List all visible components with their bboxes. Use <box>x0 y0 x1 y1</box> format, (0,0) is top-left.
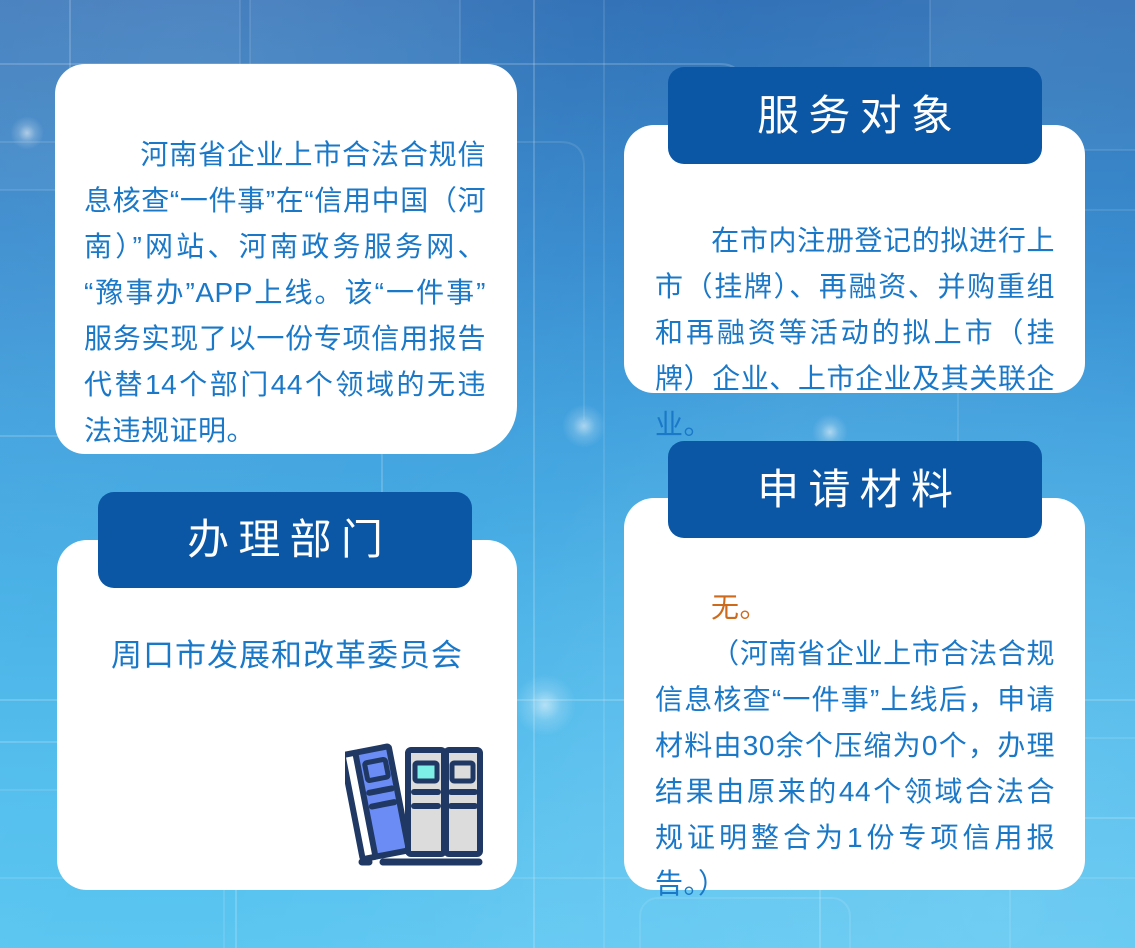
application-materials-paragraph-text: （河南省企业上市合法合规信息核查“一件事”上线后，申请材料由30余个压缩为0个，… <box>655 638 1055 899</box>
service-target-title: 服务对象 <box>748 95 962 137</box>
glow-spark <box>10 116 44 150</box>
intro-paragraph-text: 河南省企业上市合法合规信息核查“一件事”在“信用中国（河南）”网站、河南政务服务… <box>84 139 486 446</box>
document-binders-icon <box>345 728 487 868</box>
no-materials-label: 无。 <box>711 592 768 623</box>
service-target-paragraph: 在市内注册登记的拟进行上市（挂牌）、再融资、并购重组和再融资等活动的拟上市（挂牌… <box>655 218 1055 448</box>
application-materials-title-badge: 申请材料 <box>668 441 1042 538</box>
department-name: 周口市发展和改革委员会 <box>57 634 517 678</box>
intro-paragraph: 河南省企业上市合法合规信息核查“一件事”在“信用中国（河南）”网站、河南政务服务… <box>84 132 486 454</box>
no-materials-note: 无。 <box>655 585 1055 631</box>
handling-department-title: 办理部门 <box>178 519 392 561</box>
service-target-title-badge: 服务对象 <box>668 67 1042 164</box>
service-target-paragraph-text: 在市内注册登记的拟进行上市（挂牌）、再融资、并购重组和再融资等活动的拟上市（挂牌… <box>655 225 1055 440</box>
application-materials-paragraph: （河南省企业上市合法合规信息核查“一件事”上线后，申请材料由30余个压缩为0个，… <box>655 631 1055 907</box>
glow-spark <box>562 404 606 448</box>
application-materials-body: 无。 （河南省企业上市合法合规信息核查“一件事”上线后，申请材料由30余个压缩为… <box>655 585 1055 907</box>
handling-department-title-badge: 办理部门 <box>98 492 472 588</box>
glow-spark <box>514 674 576 736</box>
infographic-stage: 河南省企业上市合法合规信息核查“一件事”在“信用中国（河南）”网站、河南政务服务… <box>0 0 1135 948</box>
application-materials-title: 申请材料 <box>748 469 962 511</box>
